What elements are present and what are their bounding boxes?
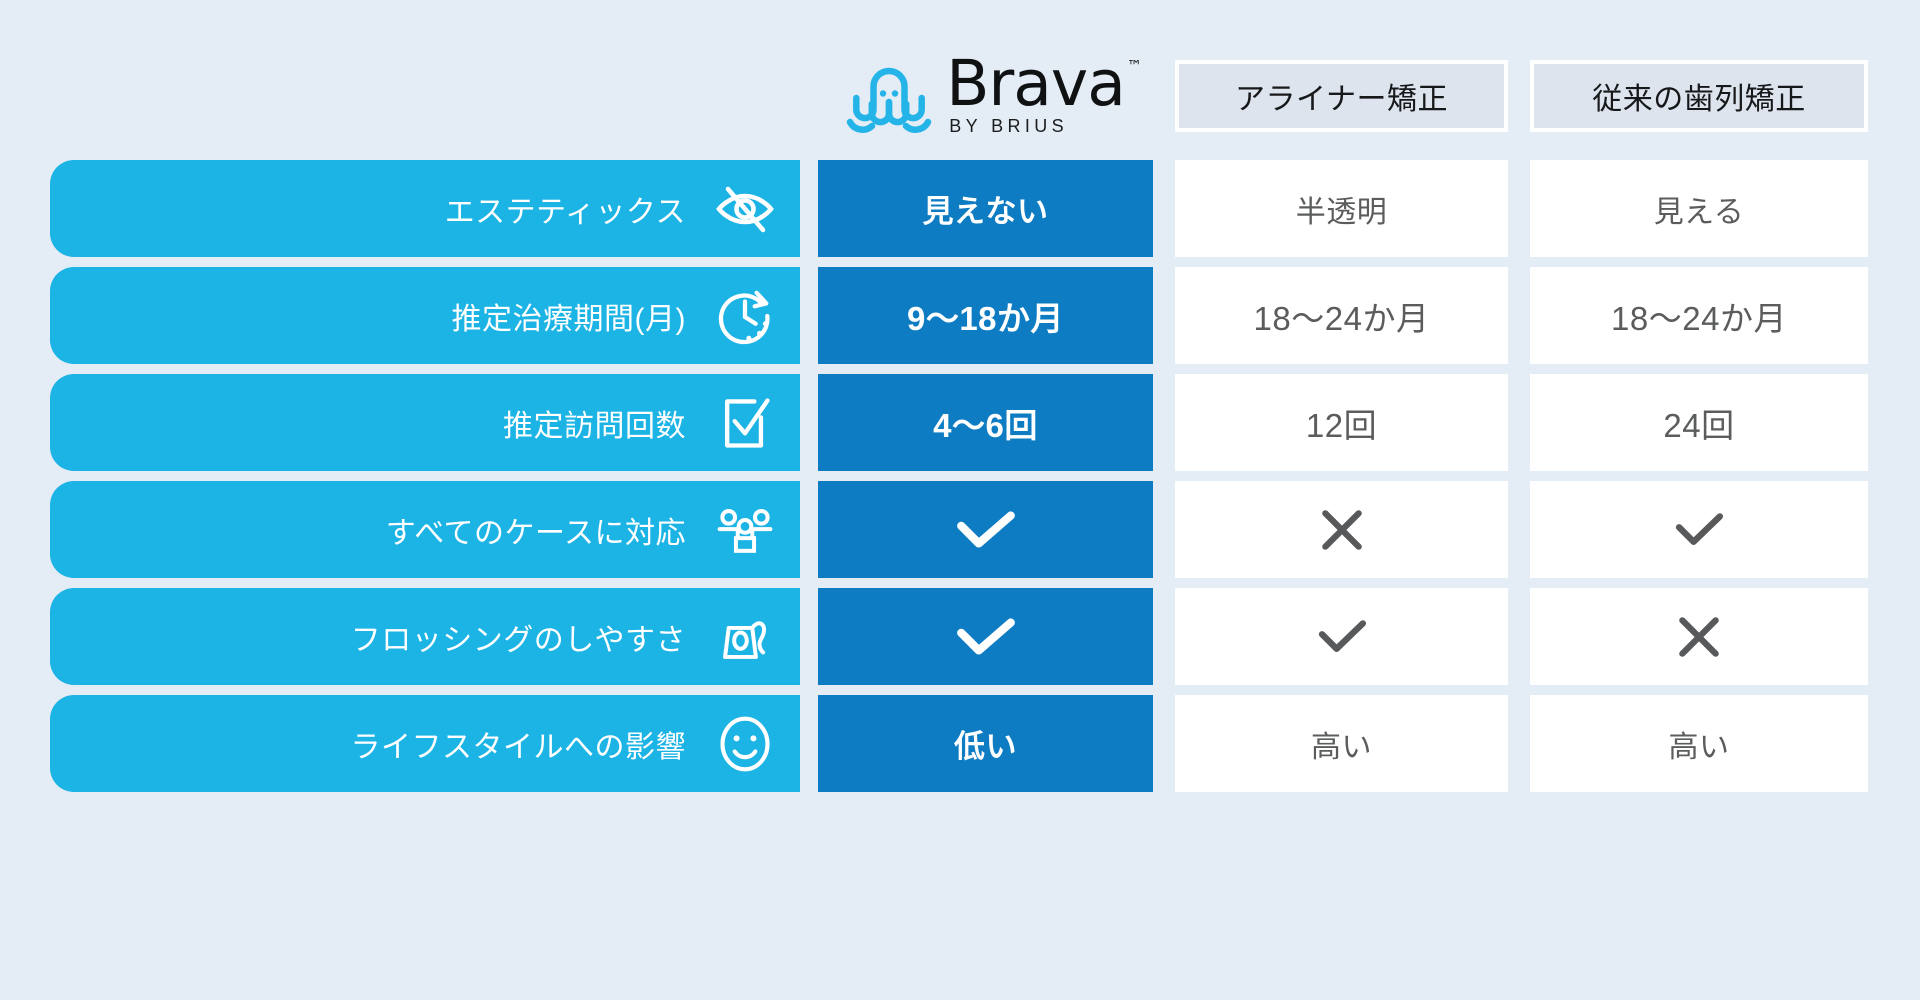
table-row: 推定治療期間(月) 9〜18か月 18〜24か月 18〜24か月 (0, 267, 1920, 364)
row-label-cell: エステティックス (50, 160, 800, 257)
column-header-aligner: アライナー矯正 (1175, 60, 1508, 132)
cell-traditional-value: 高い (1669, 722, 1730, 766)
brava-logo: Brava ™ BY BRIUS (818, 44, 1153, 148)
brand-name: Brava ™ (946, 55, 1125, 113)
cross-icon (1674, 612, 1724, 662)
trademark-symbol: ™ (1127, 59, 1142, 74)
row-label: 推定治療期間(月) (50, 294, 712, 338)
check-icon (1670, 511, 1728, 549)
cell-traditional: 見える (1530, 160, 1868, 257)
cell-brava: 4〜6回 (818, 374, 1153, 471)
cell-aligner-value: 18〜24か月 (1254, 292, 1430, 340)
column-header-traditional: 従来の歯列矯正 (1530, 60, 1868, 132)
cell-traditional: 24回 (1530, 374, 1868, 471)
cell-traditional: 高い (1530, 695, 1868, 792)
cross-icon (1317, 505, 1367, 555)
check-icon (953, 616, 1019, 658)
row-label: 推定訪問回数 (50, 401, 712, 445)
cell-brava: 低い (818, 695, 1153, 792)
cell-aligner (1175, 588, 1508, 685)
cell-brava-value: 低い (954, 721, 1017, 766)
cell-brava-value: 9〜18か月 (907, 292, 1064, 340)
cell-traditional-value: 24回 (1663, 399, 1734, 447)
cell-aligner-value: 半透明 (1296, 187, 1388, 231)
table-row: すべてのケースに対応 (0, 481, 1920, 578)
column-header-traditional-label: 従来の歯列矯正 (1592, 74, 1806, 118)
cell-traditional-value: 18〜24か月 (1611, 292, 1787, 340)
octopus-icon (846, 57, 932, 135)
table-header: Brava ™ BY BRIUS アライナー矯正 従来の歯列矯正 (0, 44, 1920, 148)
row-label-cell: すべてのケースに対応 (50, 481, 800, 578)
table-row: エステティックス 見えない 半透明 見える (0, 160, 1920, 257)
smiley-face-icon (712, 711, 778, 777)
row-label: フロッシングのしやすさ (50, 615, 712, 659)
cell-aligner: 18〜24か月 (1175, 267, 1508, 364)
cell-brava-value: 見えない (923, 186, 1049, 231)
cell-traditional (1530, 588, 1868, 685)
row-label-cell: 推定訪問回数 (50, 374, 800, 471)
table-row: ライフスタイルへの影響 低い 高い 高い (0, 695, 1920, 792)
cell-brava (818, 481, 1153, 578)
row-label-cell: フロッシングのしやすさ (50, 588, 800, 685)
cell-traditional-value: 見える (1654, 187, 1745, 231)
table-row: 推定訪問回数 4〜6回 12回 24回 (0, 374, 1920, 471)
cell-brava (818, 588, 1153, 685)
row-label: すべてのケースに対応 (50, 508, 712, 552)
row-label-cell: ライフスタイルへの影響 (50, 695, 800, 792)
check-icon (953, 509, 1019, 551)
floss-dispenser-icon (712, 604, 778, 670)
table-row: フロッシングのしやすさ (0, 588, 1920, 685)
comparison-table: Brava ™ BY BRIUS アライナー矯正 従来の歯列矯正 エステティック… (0, 0, 1920, 1000)
cell-traditional: 18〜24か月 (1530, 267, 1868, 364)
row-label-cell: 推定治療期間(月) (50, 267, 800, 364)
eye-off-icon (712, 176, 778, 242)
people-group-icon (712, 497, 778, 563)
cell-aligner-value: 高い (1311, 722, 1372, 766)
checklist-icon (712, 390, 778, 456)
row-label: エステティックス (50, 187, 712, 231)
cell-aligner-value: 12回 (1306, 399, 1377, 447)
cell-aligner: 高い (1175, 695, 1508, 792)
clock-history-icon (712, 283, 778, 349)
cell-brava: 9〜18か月 (818, 267, 1153, 364)
cell-aligner: 半透明 (1175, 160, 1508, 257)
column-header-aligner-label: アライナー矯正 (1235, 74, 1448, 118)
row-label: ライフスタイルへの影響 (50, 722, 712, 766)
cell-brava: 見えない (818, 160, 1153, 257)
check-icon (1313, 618, 1371, 656)
cell-brava-value: 4〜6回 (933, 399, 1038, 447)
cell-aligner (1175, 481, 1508, 578)
cell-traditional (1530, 481, 1868, 578)
cell-aligner: 12回 (1175, 374, 1508, 471)
